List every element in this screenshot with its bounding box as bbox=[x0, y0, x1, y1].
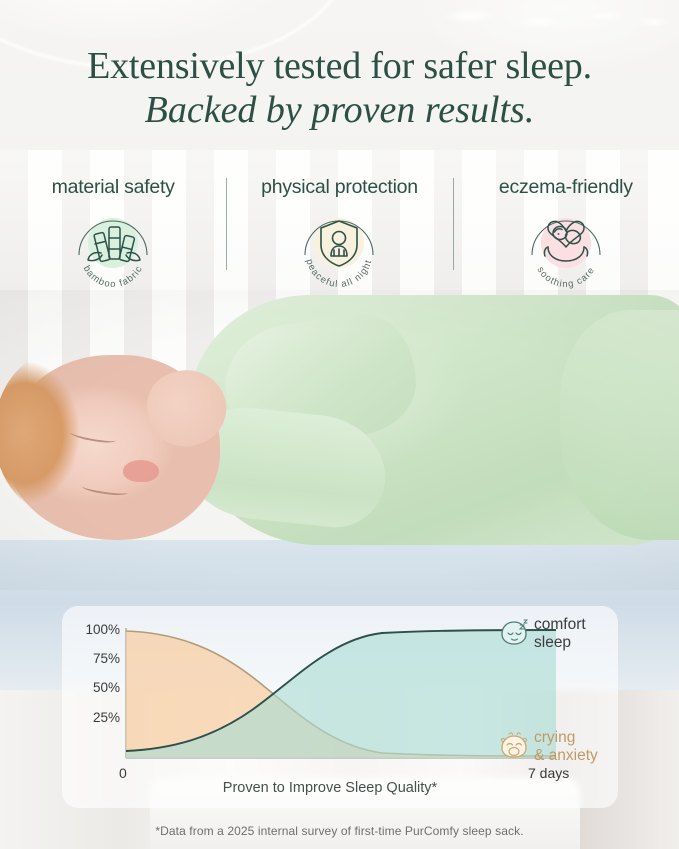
chart-xlabel: Proven to Improve Sleep Quality* bbox=[223, 780, 438, 796]
feature-badges: material safety bbox=[0, 176, 679, 291]
legend-crying-line-1: crying bbox=[534, 729, 598, 747]
feature-eczema-friendly[interactable]: eczema-friendly bbox=[453, 176, 679, 291]
x-axis-tick-labels: 0 7 days bbox=[119, 765, 569, 781]
legend-comfort-line-2: sleep bbox=[534, 634, 586, 652]
legend-crying-anxiety: crying & anxiety bbox=[534, 729, 598, 766]
headline-line-2: Backed by proven results. bbox=[0, 88, 679, 132]
feature-label-physical-protection: physical protection bbox=[261, 176, 418, 199]
svg-text:soothing care: soothing care bbox=[534, 265, 597, 290]
seal-soothing-care: soothing care bbox=[520, 203, 612, 291]
y-tick-50: 50% bbox=[93, 680, 120, 695]
shield-baby-icon: peaceful all night bbox=[293, 203, 385, 295]
feature-label-material-safety: material safety bbox=[52, 176, 175, 199]
x-tick-0: 0 bbox=[119, 765, 127, 781]
seal-peaceful-all-night: peaceful all night bbox=[293, 203, 385, 291]
y-axis-tick-labels: 100% 75% 50% 25% bbox=[85, 622, 120, 725]
feature-physical-protection[interactable]: physical protection bbox=[226, 176, 452, 291]
seal-text-soothing-care: soothing care bbox=[534, 265, 597, 290]
baby-mouth bbox=[123, 460, 159, 482]
footnote: *Data from a 2025 internal survey of fir… bbox=[0, 824, 679, 838]
crying-baby-face-icon bbox=[498, 730, 532, 760]
feature-material-safety[interactable]: material safety bbox=[0, 176, 226, 291]
legend-crying-line-2: & anxiety bbox=[534, 747, 598, 765]
sleeping-baby-face-icon bbox=[498, 617, 532, 647]
sleeping-baby-photo bbox=[0, 300, 679, 580]
x-tick-7days: 7 days bbox=[528, 765, 569, 781]
heart-hands-baby-icon: soothing care bbox=[520, 203, 612, 295]
legend-comfort-line-1: comfort bbox=[534, 616, 586, 634]
y-tick-25: 25% bbox=[93, 710, 120, 725]
feature-label-eczema-friendly: eczema-friendly bbox=[499, 176, 633, 199]
ad-creative-page: Extensively tested for safer sleep. Back… bbox=[0, 0, 679, 849]
headboard-scroll-motif bbox=[429, 0, 679, 46]
y-tick-100: 100% bbox=[85, 622, 120, 637]
headline-line-1: Extensively tested for safer sleep. bbox=[0, 44, 679, 88]
bamboo-stalks-icon: bamboo fabric bbox=[67, 203, 159, 295]
y-tick-75: 75% bbox=[93, 651, 120, 666]
legend-comfort-sleep: comfort sleep bbox=[534, 616, 586, 653]
headline: Extensively tested for safer sleep. Back… bbox=[0, 44, 679, 132]
seal-bamboo-fabric: bamboo fabric bbox=[67, 203, 159, 291]
